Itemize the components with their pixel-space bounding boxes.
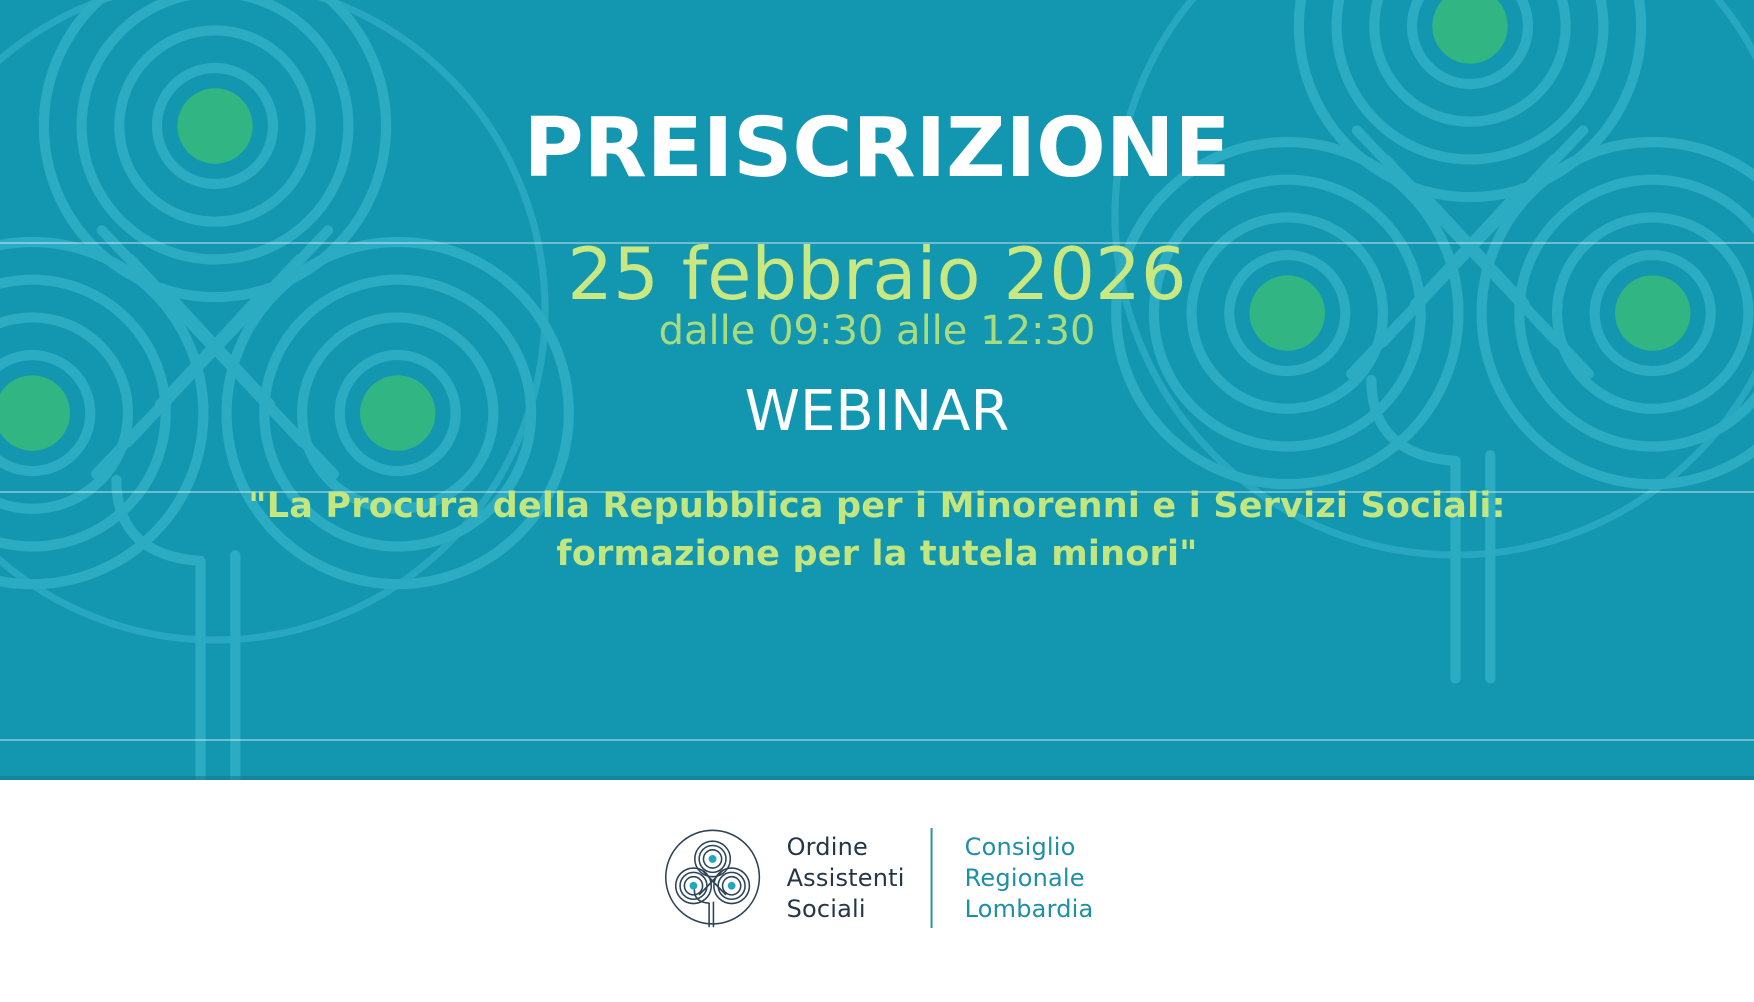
logo-org-line-3: Sociali xyxy=(787,894,905,925)
event-title: "La Procura della Repubblica per i Minor… xyxy=(90,482,1664,578)
trefoil-tree-logo-icon xyxy=(661,826,765,930)
logo-org-line-2: Assistenti xyxy=(787,863,905,894)
logo-lockup: Ordine Assistenti Sociali Consiglio Regi… xyxy=(661,826,1094,930)
hero-section: PREISCRIZIONE 25 febbraio 2026 dalle 09:… xyxy=(0,0,1754,780)
event-title-line-1: "La Procura della Repubblica per i Minor… xyxy=(248,486,1505,526)
logo-council-line-2: Regionale xyxy=(965,863,1094,894)
logo-organization-name: Ordine Assistenti Sociali xyxy=(787,832,905,925)
footer-section: Ordine Assistenti Sociali Consiglio Regi… xyxy=(0,780,1754,1002)
page-title: PREISCRIZIONE xyxy=(0,103,1754,195)
event-format: WEBINAR xyxy=(0,378,1754,446)
logo-council-name: Consiglio Regionale Lombardia xyxy=(965,832,1094,925)
event-title-line-2: formazione per la tutela minori" xyxy=(556,534,1197,574)
hero-content: PREISCRIZIONE 25 febbraio 2026 dalle 09:… xyxy=(0,0,1754,780)
logo-org-line-1: Ordine xyxy=(787,832,905,863)
preiscrizione-banner: PREISCRIZIONE 25 febbraio 2026 dalle 09:… xyxy=(0,0,1754,1002)
event-time: dalle 09:30 alle 12:30 xyxy=(0,306,1754,356)
logo-council-line-1: Consiglio xyxy=(965,832,1094,863)
logo-council-line-3: Lombardia xyxy=(965,894,1094,925)
logo-divider xyxy=(931,828,933,928)
event-date: 25 febbraio 2026 xyxy=(0,232,1754,316)
